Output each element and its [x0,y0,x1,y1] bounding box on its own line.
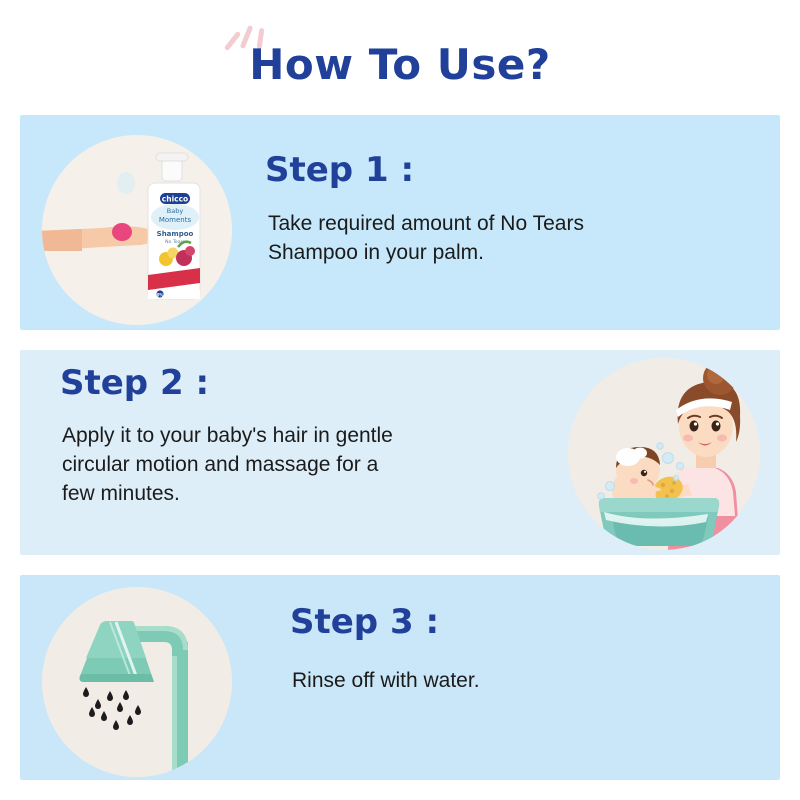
svg-text:Moments: Moments [159,216,192,224]
svg-text:Shampoo: Shampoo [157,230,194,238]
step-3-heading: Step 3 : [290,602,439,642]
step-2-body: Apply it to your baby's hair in gentle c… [62,422,572,509]
step-panel-1: chicco Baby Moments Shampoo No Tears 0% [20,115,780,330]
svg-text:Baby: Baby [167,207,184,215]
svg-text:chicco: chicco [162,195,188,204]
step-3-body: Rinse off with water. [292,667,762,696]
step-2-illustration [568,358,760,550]
step-1-illustration: chicco Baby Moments Shampoo No Tears 0% [42,135,232,325]
page-title: How To Use? [0,40,800,89]
step-1-body: Take required amount of No Tears Shampoo… [268,210,758,268]
step-panel-2: Step 2 : Apply it to your baby's hair in… [20,350,780,555]
step-3-illustration [42,587,232,777]
svg-text:0%: 0% [157,292,164,297]
step-2-heading: Step 2 : [60,363,209,403]
step-panel-3: Step 3 : Rinse off with water. [20,575,780,780]
step-1-heading: Step 1 : [265,150,414,190]
page-header: How To Use? [0,0,800,112]
